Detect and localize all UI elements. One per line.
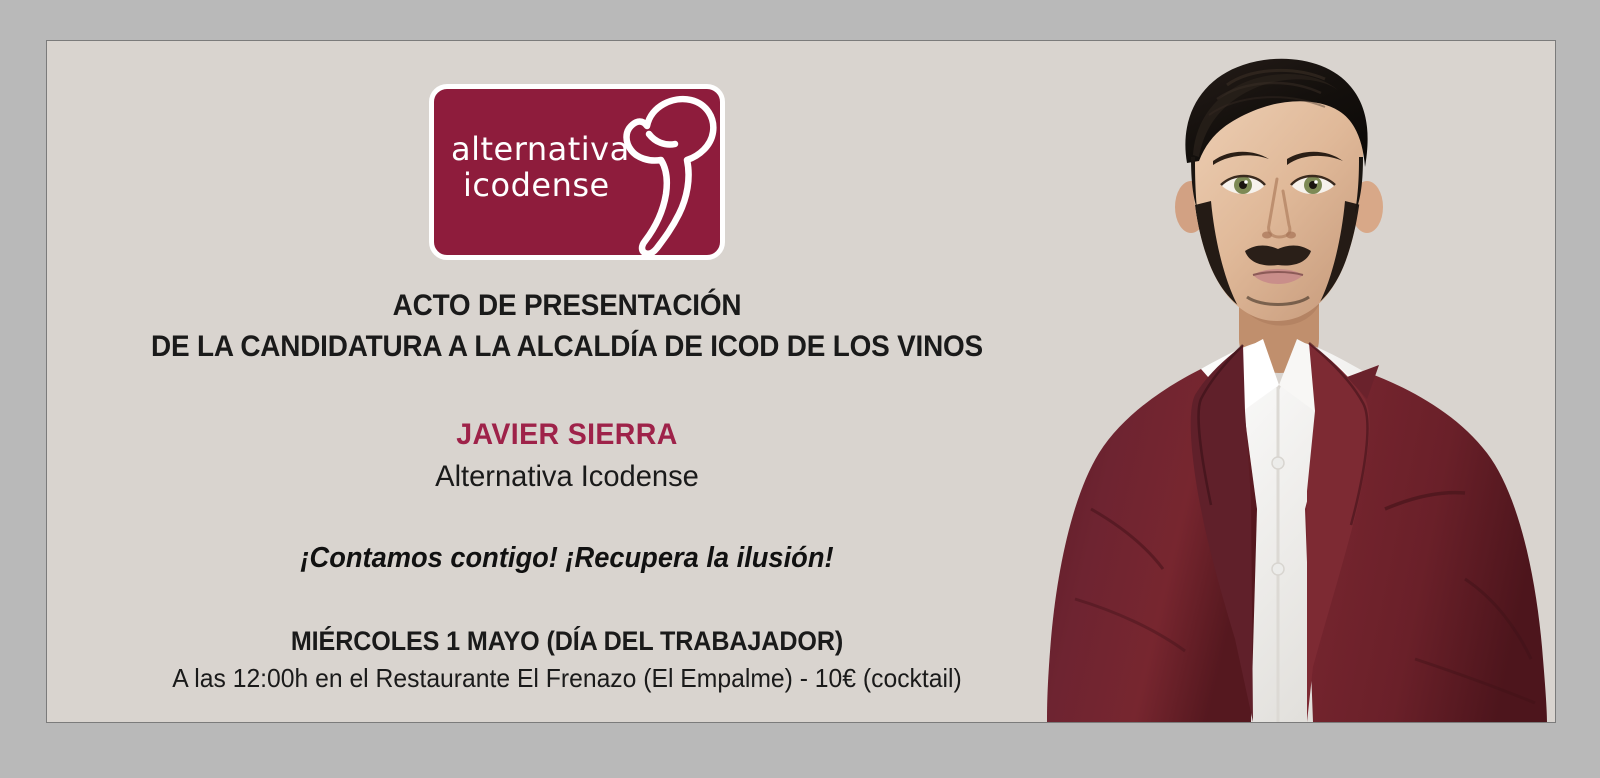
candidate-name: JAVIER SIERRA	[73, 418, 1061, 452]
portrait-head	[1175, 59, 1383, 331]
alternativa-icodense-logo: alternativa icodense	[429, 84, 725, 260]
headline-line-2: DE LA CANDIDATURA A LA ALCALDÍA DE ICOD …	[83, 326, 1050, 367]
headline-line-1: ACTO DE PRESENTACIÓN	[83, 285, 1050, 326]
candidate-party: Alternativa Icodense	[63, 460, 1072, 494]
candidate-portrait	[995, 40, 1555, 722]
event-date: MIÉRCOLES 1 MAYO (DÍA DEL TRABAJADOR)	[83, 626, 1050, 657]
poster-sheet: alternativa icodense ACTO DE PRESENTACIÓ…	[46, 40, 1556, 723]
poster-text-block: ACTO DE PRESENTACIÓN DE LA CANDIDATURA A…	[47, 285, 1087, 694]
campaign-slogan: ¡Contamos contigo! ¡Recupera la ilusión!	[78, 542, 1056, 575]
logo-line-icodense: icodense	[451, 168, 641, 204]
logo-line-alternativa: alternativa	[451, 132, 641, 168]
logo-wordmark: alternativa icodense	[451, 132, 641, 204]
event-venue: A las 12:00h en el Restaurante El Frenaz…	[73, 663, 1061, 694]
portrait-body	[1047, 275, 1547, 722]
poster-canvas: alternativa icodense ACTO DE PRESENTACIÓ…	[0, 0, 1600, 778]
